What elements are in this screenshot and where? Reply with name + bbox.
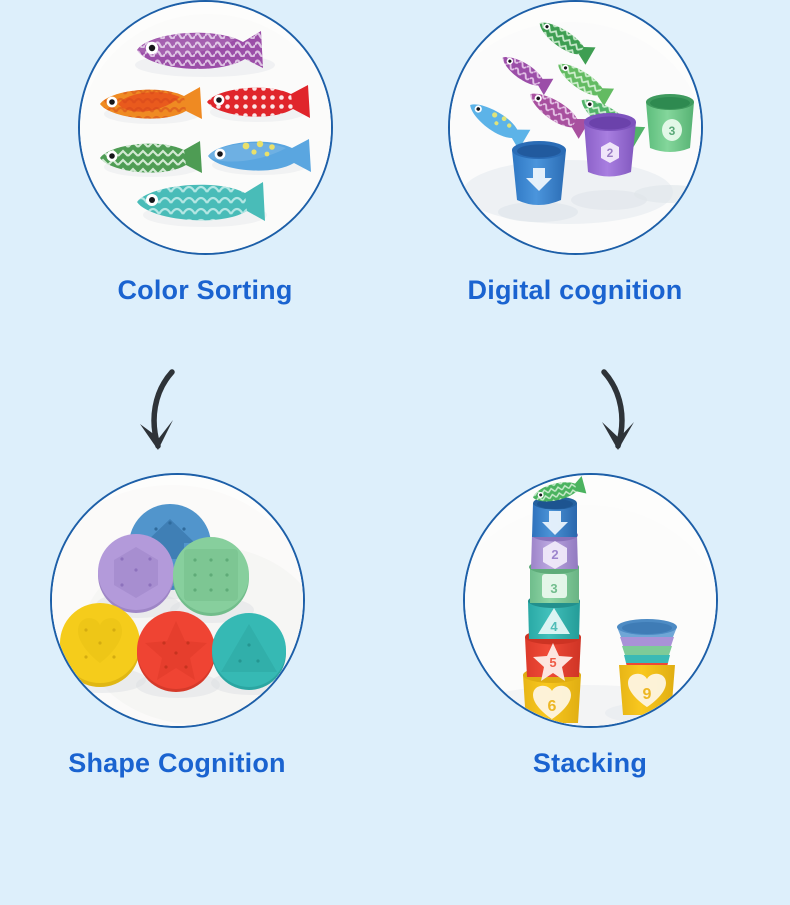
color-sorting-scene bbox=[80, 2, 331, 253]
svg-text:5: 5 bbox=[549, 655, 556, 670]
color-sorting-circle bbox=[78, 0, 333, 255]
panel-stacking: 6 5 bbox=[440, 473, 740, 779]
panel-digital-cognition: 3 2 bbox=[425, 0, 725, 306]
stacking-scene: 6 5 bbox=[465, 475, 716, 726]
svg-text:2: 2 bbox=[606, 146, 613, 160]
caption-color-sorting: Color Sorting bbox=[55, 275, 355, 306]
tower-cup-1 bbox=[532, 497, 577, 538]
svg-text:3: 3 bbox=[668, 124, 675, 138]
caption-digital-cognition: Digital cognition bbox=[425, 275, 725, 306]
svg-text:6: 6 bbox=[547, 698, 556, 715]
svg-text:9: 9 bbox=[642, 686, 651, 703]
panel-shape-cognition: Shape Cognition bbox=[27, 473, 327, 779]
svg-text:4: 4 bbox=[550, 619, 558, 634]
arrow-down-right bbox=[578, 368, 658, 468]
caption-stacking: Stacking bbox=[440, 748, 740, 779]
shape-cognition-circle bbox=[50, 473, 305, 728]
digital-cognition-circle: 3 2 bbox=[448, 0, 703, 255]
arrow-down-left bbox=[128, 368, 208, 468]
svg-text:2: 2 bbox=[551, 547, 558, 562]
caption-shape-cognition: Shape Cognition bbox=[27, 748, 327, 779]
shape-cognition-scene bbox=[52, 475, 303, 726]
svg-text:3: 3 bbox=[550, 581, 557, 596]
stacking-circle: 6 5 bbox=[463, 473, 718, 728]
digital-cognition-scene: 3 2 bbox=[450, 2, 701, 253]
infographic-board: Color Sorting bbox=[0, 0, 790, 905]
panel-color-sorting: Color Sorting bbox=[55, 0, 355, 306]
